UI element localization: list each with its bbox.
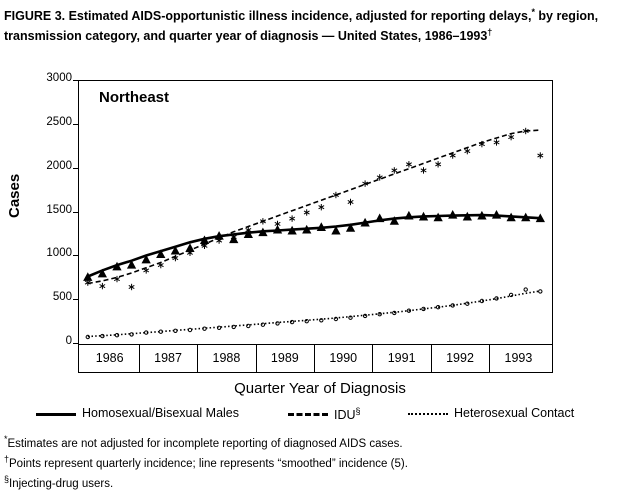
data-point-marker: [261, 323, 264, 326]
x-axis-band: 19861987198819891990199119921993: [78, 345, 553, 373]
y-tick-label: 2000: [32, 160, 72, 172]
y-tick-mark: [73, 343, 78, 344]
x-tick-label: 1988: [198, 351, 254, 365]
legend-label: Heterosexual Contact: [454, 406, 574, 420]
x-tick-label: 1990: [315, 351, 371, 365]
series-line: [88, 291, 541, 337]
y-tick-mark: [73, 299, 78, 300]
y-tick-label: 500: [32, 291, 72, 303]
y-tick-mark: [73, 255, 78, 256]
chart-title: Northeast: [99, 89, 169, 106]
y-tick-mark: [73, 168, 78, 169]
data-point-marker: [405, 212, 413, 220]
caption-line-3a: States, 1986–1993: [380, 29, 487, 43]
y-tick-label: 1500: [32, 204, 72, 216]
data-point-marker: [509, 293, 512, 296]
x-tick-label: 1991: [374, 351, 430, 365]
y-tick-mark: [73, 80, 78, 81]
legend-label: Homosexual/Bisexual Males: [82, 406, 239, 420]
x-tick-label: 1993: [490, 351, 546, 365]
y-tick-mark: [73, 124, 78, 125]
legend-swatch: [408, 413, 448, 415]
chart-legend: Homosexual/Bisexual MalesIDU§Heterosexua…: [0, 404, 640, 426]
chart-container: Cases Northeast 050010001500200025003000…: [0, 58, 640, 398]
footnote: †Points represent quarterly incidence; l…: [4, 452, 636, 472]
y-axis-label: Cases: [6, 174, 23, 218]
footnote-text: Points represent quarterly incidence; li…: [9, 458, 408, 470]
y-tick-label: 0: [32, 335, 72, 347]
figure-caption: FIGURE 3. Estimated AIDS-opportunistic i…: [4, 4, 634, 44]
legend-swatch: [36, 413, 76, 416]
data-point-marker: [524, 288, 527, 291]
legend-label: IDU§: [334, 406, 361, 422]
plot-area: Northeast: [78, 80, 553, 345]
x-tick-label: 1989: [257, 351, 313, 365]
caption-dagger: †: [487, 27, 492, 37]
footnote: §Injecting-drug users.: [4, 472, 636, 491]
footnote-text: Injecting-drug users.: [9, 477, 113, 489]
data-point-marker: [186, 244, 194, 252]
data-point-marker: [247, 324, 250, 327]
footnote-text: Estimates are not adjusted for incomplet…: [8, 438, 403, 450]
footnote: *Estimates are not adjusted for incomple…: [4, 432, 636, 452]
caption-line-1: FIGURE 3. Estimated AIDS-opportunistic i…: [4, 9, 486, 23]
y-tick-mark: [73, 212, 78, 213]
legend-label-superscript: §: [356, 406, 361, 416]
y-tick-label: 1000: [32, 247, 72, 259]
data-point-marker: [539, 290, 542, 293]
y-tick-label: 2500: [32, 116, 72, 128]
footnotes: *Estimates are not adjusted for incomple…: [4, 432, 636, 491]
x-tick-label: 1987: [140, 351, 196, 365]
data-point-marker: [230, 235, 238, 243]
chart-svg: [79, 81, 552, 344]
y-tick-label: 3000: [32, 72, 72, 84]
caption-line-2a: delays,: [489, 9, 531, 23]
x-tick-label: 1986: [82, 351, 138, 365]
legend-swatch: [288, 413, 328, 416]
x-tick-label: 1992: [432, 351, 488, 365]
series-line: [88, 215, 541, 276]
series-line: [88, 130, 541, 283]
x-axis-title: Quarter Year of Diagnosis: [0, 380, 640, 397]
data-point-marker: [376, 214, 384, 222]
